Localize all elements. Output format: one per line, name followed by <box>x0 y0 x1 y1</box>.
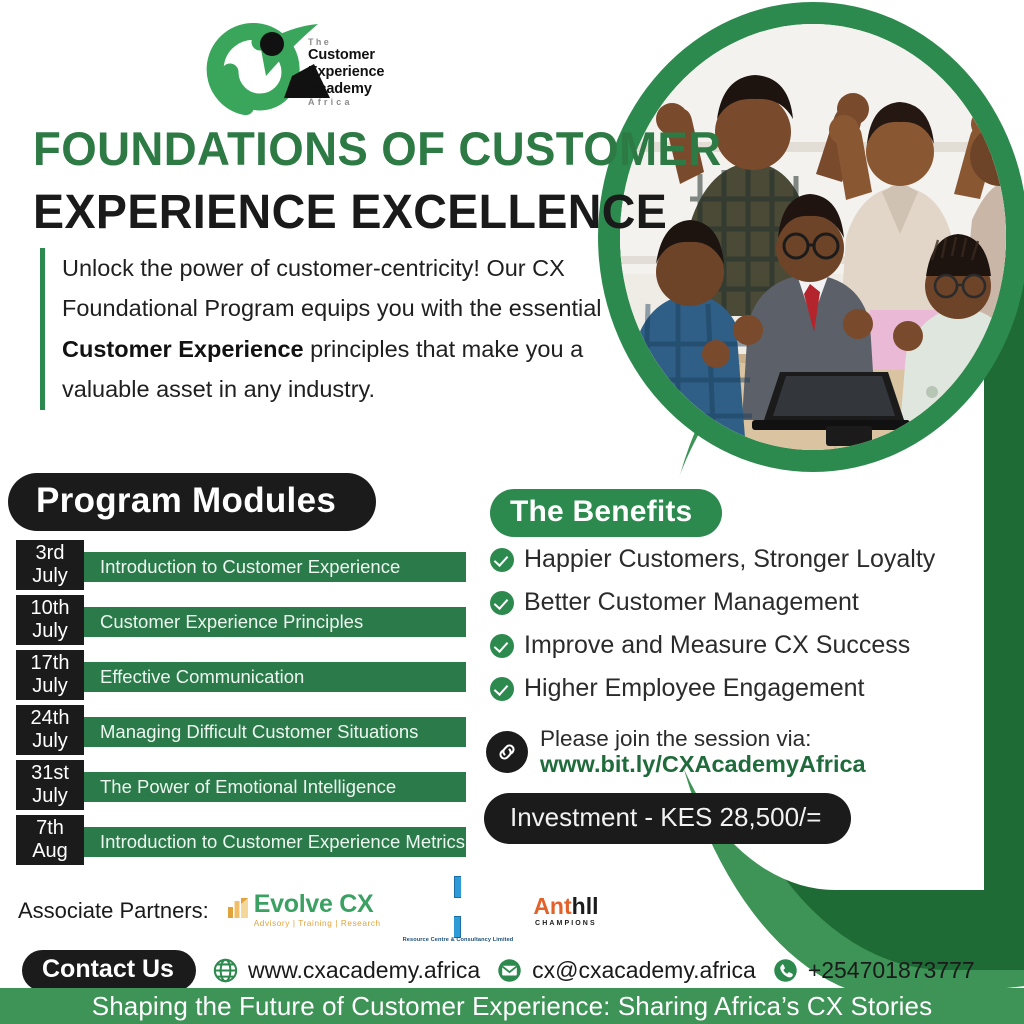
intro-text-part1: Unlock the power of customer-centricity!… <box>62 255 602 321</box>
module-title: Customer Experience Principles <box>78 607 466 637</box>
contact-phone[interactable]: +254701873777 <box>772 957 975 984</box>
module-month: July <box>32 675 68 698</box>
module-day: 7th <box>36 817 64 840</box>
module-row[interactable]: 7th Aug Introduction to Customer Experie… <box>16 815 466 869</box>
module-title: Introduction to Customer Experience Metr… <box>78 827 466 857</box>
logo-line1: Customer <box>308 47 384 64</box>
check-circle-icon <box>490 677 514 701</box>
check-circle-icon <box>490 591 514 615</box>
footer-tagline-bar: Shaping the Future of Customer Experienc… <box>0 988 1024 1024</box>
phone-text: +254701873777 <box>808 957 975 984</box>
evolve-tagline: Advisory | Training | Research <box>254 920 381 928</box>
benefits-heading: The Benefits <box>490 489 722 537</box>
module-day: 3rd <box>36 542 65 565</box>
module-title: Introduction to Customer Experience <box>78 552 466 582</box>
anthill-part-b: h <box>572 893 586 919</box>
logo-line2: Experience <box>308 64 384 81</box>
anthill-part-c: ll <box>586 893 599 919</box>
intro-text-bold: Customer Experience <box>62 336 304 362</box>
module-row[interactable]: 31st July The Power of Emotional Intelli… <box>16 760 466 814</box>
investment-badge: Investment - KES 28,500/= <box>484 793 851 844</box>
phone-icon <box>772 957 799 984</box>
anthill-subtitle: CHAMPIONS <box>533 920 598 927</box>
benefit-item: Higher Employee Engagement <box>490 667 940 710</box>
benefits-list: Happier Customers, Stronger Loyalty Bett… <box>490 538 940 710</box>
module-title: The Power of Emotional Intelligence <box>78 772 466 802</box>
intro-paragraph: Unlock the power of customer-centricity!… <box>40 248 622 410</box>
poster-canvas: The Customer Experience Academy Africa F… <box>0 0 1024 1024</box>
program-modules-heading: Program Modules <box>8 473 376 531</box>
module-date: 17th July <box>16 650 84 700</box>
module-title: Effective Communication <box>78 662 466 692</box>
module-day: 24th <box>31 707 70 730</box>
module-date: 10th July <box>16 595 84 645</box>
link-icon <box>486 731 528 773</box>
benefit-item: Better Customer Management <box>490 581 940 624</box>
headline-line-2: EXPERIENCE EXCELLENCE <box>33 181 596 245</box>
join-url[interactable]: www.bit.ly/CXAcademyAfrica <box>540 751 866 777</box>
partner-evolve-cx: Evolve CX Advisory | Training | Research <box>227 892 381 928</box>
benefit-label: Happier Customers, Stronger Loyalty <box>524 545 935 574</box>
contact-email[interactable]: cx@cxacademy.africa <box>496 957 756 984</box>
module-date: 31st July <box>16 760 84 810</box>
email-text: cx@cxacademy.africa <box>532 957 756 984</box>
module-row[interactable]: 24th July Managing Difficult Customer Si… <box>16 705 466 759</box>
associate-partners: Associate Partners: Evolve CX Advisory |… <box>18 878 598 943</box>
check-circle-icon <box>490 634 514 658</box>
module-month: July <box>32 620 68 643</box>
inspired-name: inspired <box>403 896 514 918</box>
module-month: July <box>32 565 68 588</box>
globe-icon <box>212 957 239 984</box>
headline-line-1: FOUNDATIONS OF CUSTOMER <box>33 118 596 181</box>
benefit-label: Improve and Measure CX Success <box>524 631 910 660</box>
module-day: 31st <box>31 762 69 785</box>
check-circle-icon <box>490 548 514 572</box>
contact-bar: Contact Us www.cxacademy.africa <box>0 948 1024 992</box>
module-date: 24th July <box>16 705 84 755</box>
module-month: Aug <box>32 840 68 863</box>
logo-wordmark: The Customer Experience Academy Africa <box>308 38 384 107</box>
partners-label: Associate Partners: <box>18 898 209 924</box>
module-day: 17th <box>31 652 70 675</box>
logo-the: The <box>308 38 384 47</box>
module-row[interactable]: 17th July Effective Communication <box>16 650 466 704</box>
evolve-name: Evolve CX <box>254 890 374 918</box>
module-row[interactable]: 10th July Customer Experience Principles <box>16 595 466 649</box>
join-session-block[interactable]: Please join the session via: www.bit.ly/… <box>486 726 866 778</box>
module-date: 3rd July <box>16 540 84 590</box>
benefit-label: Better Customer Management <box>524 588 859 617</box>
benefit-label: Higher Employee Engagement <box>524 674 864 703</box>
anthill-part-a: Ant <box>533 893 571 919</box>
benefit-item: Improve and Measure CX Success <box>490 624 940 667</box>
logo-africa: Africa <box>308 98 384 107</box>
module-month: July <box>32 730 68 753</box>
contact-website[interactable]: www.cxacademy.africa <box>212 957 480 984</box>
envelope-icon <box>496 957 523 984</box>
hero-photo <box>620 24 1006 450</box>
join-label: Please join the session via: <box>540 726 811 751</box>
footer-tagline: Shaping the Future of Customer Experienc… <box>92 991 932 1022</box>
module-month: July <box>32 785 68 808</box>
evolve-bars-icon <box>227 895 249 919</box>
benefit-item: Happier Customers, Stronger Loyalty <box>490 538 940 581</box>
logo-line3: Academy <box>308 81 384 98</box>
module-day: 10th <box>31 597 70 620</box>
partner-inspired: inspired Resource Centre & Consultancy L… <box>403 878 514 943</box>
inspired-subtitle: Resource Centre & Consultancy Limited <box>403 937 514 943</box>
program-modules-list: 3rd July Introduction to Customer Experi… <box>16 540 466 870</box>
module-date: 7th Aug <box>16 815 84 865</box>
page-title: FOUNDATIONS OF CUSTOMER EXPERIENCE EXCEL… <box>33 118 613 244</box>
module-title: Managing Difficult Customer Situations <box>78 717 466 747</box>
contact-us-label: Contact Us <box>22 950 196 991</box>
module-row[interactable]: 3rd July Introduction to Customer Experi… <box>16 540 466 594</box>
partner-anthill: Anthll CHAMPIONS <box>533 895 598 927</box>
website-text: www.cxacademy.africa <box>248 957 480 984</box>
